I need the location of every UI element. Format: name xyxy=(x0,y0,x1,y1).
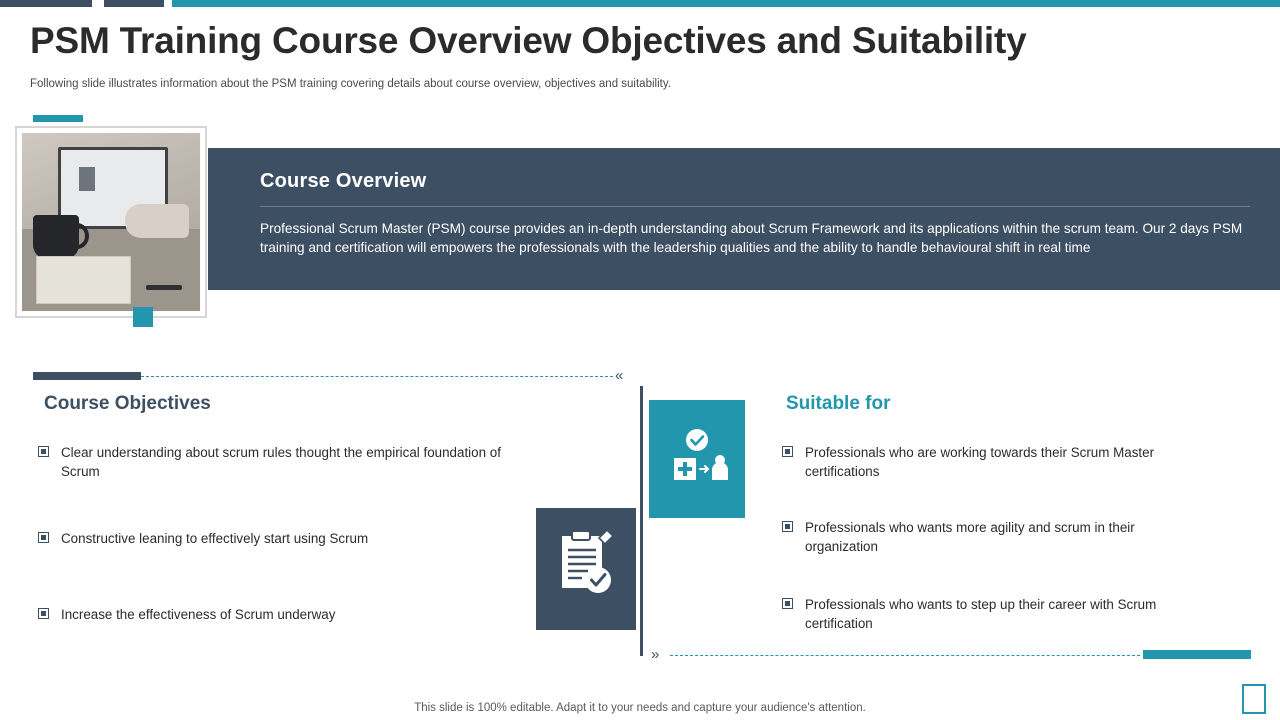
photo-accent-bar xyxy=(33,115,83,122)
bottom-accent-bar xyxy=(1143,650,1251,659)
bullet-square-icon xyxy=(38,608,49,619)
center-vertical-divider xyxy=(640,386,643,656)
list-item: Professionals who are working towards th… xyxy=(782,443,1192,481)
bottom-dashed-divider xyxy=(670,655,1140,656)
list-item: Increase the effectiveness of Scrum unde… xyxy=(38,605,518,624)
photo-hand xyxy=(125,204,189,238)
page-title: PSM Training Course Overview Objectives … xyxy=(30,20,1027,62)
page-corner-icon xyxy=(1242,684,1266,714)
top-accent-bar xyxy=(0,0,1280,7)
list-item-label: Clear understanding about scrum rules th… xyxy=(61,443,518,481)
photo-paper xyxy=(36,256,131,304)
document-icon-tile xyxy=(536,508,636,630)
course-overview-divider xyxy=(260,206,1250,207)
list-item-label: Increase the effectiveness of Scrum unde… xyxy=(61,605,518,624)
list-item: Professionals who wants more agility and… xyxy=(782,518,1192,556)
suitable-for-heading: Suitable for xyxy=(786,393,891,415)
health-icon-tile xyxy=(649,400,745,518)
list-item: Clear understanding about scrum rules th… xyxy=(38,443,518,481)
bullet-square-icon xyxy=(782,598,793,609)
photo-accent-square xyxy=(133,307,153,327)
list-item-label: Professionals who wants to step up their… xyxy=(805,595,1192,633)
top-dashed-divider xyxy=(141,376,613,377)
course-overview-body: Professional Scrum Master (PSM) course p… xyxy=(260,219,1252,257)
footer-note: This slide is 100% editable. Adapt it to… xyxy=(0,702,1280,714)
top-accent-segment-2 xyxy=(104,0,164,7)
medical-check-person-icon xyxy=(649,400,745,518)
objectives-accent-bar xyxy=(33,372,141,380)
course-overview-panel: Course Overview Professional Scrum Maste… xyxy=(208,148,1280,290)
top-accent-segment-3 xyxy=(172,0,1280,7)
chevron-right-icon: » xyxy=(651,646,659,663)
list-item-label: Professionals who wants more agility and… xyxy=(805,518,1192,556)
list-item-label: Constructive leaning to effectively star… xyxy=(61,529,518,548)
photo-frame xyxy=(15,126,207,318)
course-overview-heading: Course Overview xyxy=(260,170,426,193)
bullet-square-icon xyxy=(782,521,793,532)
checklist-document-icon xyxy=(536,508,636,630)
bullet-square-icon xyxy=(38,446,49,457)
bullet-square-icon xyxy=(38,532,49,543)
list-item: Constructive leaning to effectively star… xyxy=(38,529,518,548)
photo-mug xyxy=(33,215,79,259)
list-item-label: Professionals who are working towards th… xyxy=(805,443,1192,481)
chevron-left-icon: « xyxy=(615,367,623,384)
photo-pen xyxy=(146,285,182,290)
workspace-photo xyxy=(22,133,200,311)
page-subtitle: Following slide illustrates information … xyxy=(30,78,671,90)
bullet-square-icon xyxy=(782,446,793,457)
course-objectives-heading: Course Objectives xyxy=(44,393,211,415)
top-accent-segment-1 xyxy=(0,0,92,7)
list-item: Professionals who wants to step up their… xyxy=(782,595,1192,633)
